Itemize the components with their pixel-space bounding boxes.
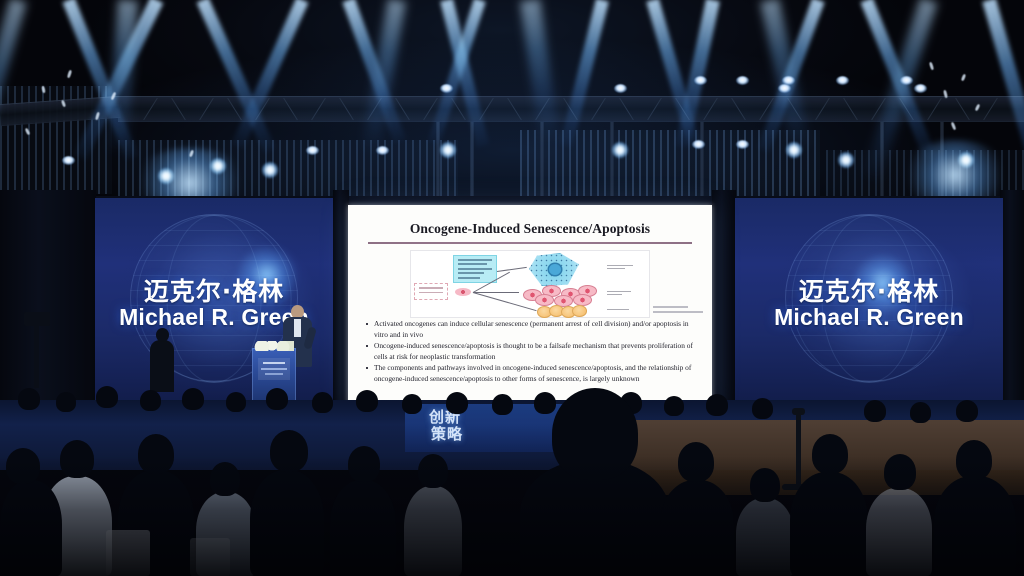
podium-sign-line: [263, 362, 285, 364]
stage-light-fixture: [614, 84, 627, 93]
speaker-name-cn: 迈克尔·格林: [735, 272, 1003, 308]
title-divider: [368, 242, 692, 244]
apoptotic-cells: [537, 305, 587, 318]
stage-light-fixture: [376, 146, 389, 155]
camera-body: [24, 312, 50, 326]
wall-pillar-right: [1000, 190, 1024, 430]
stage-light-fixture: [62, 156, 75, 165]
truss-post: [540, 122, 544, 196]
wall-gap-center-right: [712, 190, 736, 430]
stage-light-fixture: [440, 84, 453, 93]
wall-pillar-left: [0, 190, 96, 430]
camera-operator: [150, 340, 174, 392]
figure-arrow: [473, 292, 519, 293]
wall-gap-center-left: [333, 190, 349, 430]
beam-head-glow: [612, 142, 628, 158]
stage-light-fixture: [692, 140, 705, 149]
stage-scene: 迈克尔·格林 Michael R. Green 迈克尔·格林 Michael R…: [0, 0, 1024, 576]
truss-post: [880, 122, 884, 196]
podium-flowers: [254, 341, 294, 351]
stage-light-fixture: [836, 76, 849, 85]
stage-light-fixture: [736, 76, 749, 85]
senescent-cell: [529, 253, 579, 286]
speaker-name-en: Michael R. Green: [735, 304, 1003, 331]
speaker-banner-right: 迈克尔·格林 Michael R. Green: [735, 198, 1003, 418]
truss-post: [610, 122, 614, 196]
proliferating-cells: [523, 285, 597, 305]
stage-led-text-line2: 策略: [431, 426, 463, 443]
projection-screen: Oncogene-Induced Senescence/Apoptosis: [348, 205, 712, 405]
figure-source-cell: [455, 288, 471, 296]
figure-caption-box: [453, 255, 497, 283]
figure-source-label: [414, 283, 448, 300]
slide-figure: [410, 250, 650, 318]
stage-light-fixture: [736, 140, 749, 149]
figure-outcome-label-proliferation: [607, 291, 631, 297]
beam-head-glow: [838, 152, 854, 168]
slide-bullet: The components and pathways involved in …: [364, 363, 700, 384]
camera-tripod: [34, 318, 39, 388]
figure-outcome-label-senescence: [607, 265, 633, 271]
beam-head-glow: [262, 162, 278, 178]
camera-operator-head: [156, 328, 169, 342]
stage-led-banner: 创新 策略: [405, 404, 620, 452]
cell-granules: [529, 253, 579, 286]
slide-bullet: Oncogene-induced senescence/apoptosis is…: [364, 341, 700, 362]
stanchion-top: [792, 408, 805, 415]
stage-light-fixture: [900, 76, 913, 85]
figure-arrow: [497, 267, 527, 272]
beam-head-glow: [786, 142, 802, 158]
slide-bullet-list: Activated oncogenes can induce cellular …: [364, 319, 700, 385]
stage-light-fixture: [914, 84, 927, 93]
stage-light-fixture: [306, 146, 319, 155]
speaker-name-cn: 迈克尔·格林: [95, 272, 333, 308]
slide-bullet: Activated oncogenes can induce cellular …: [364, 319, 700, 340]
truss-post: [436, 122, 440, 196]
stage-light-fixture: [694, 76, 707, 85]
podium-sign-line: [261, 368, 287, 370]
beam-head-glow: [440, 142, 456, 158]
stage-led-text-line1: 创新: [429, 409, 461, 426]
foreground-vignette: [0, 456, 1024, 576]
truss-post: [700, 122, 704, 196]
figure-outcome-label-apoptosis: [607, 309, 629, 312]
speaker-shirt: [294, 319, 301, 337]
stage-light-fixture: [782, 76, 795, 85]
podium: [252, 348, 296, 404]
truss-post: [470, 122, 474, 196]
figure-credit: [653, 306, 703, 316]
podium-sign-line: [265, 373, 283, 375]
apoptotic-cell: [572, 305, 587, 317]
slide-title: Oncogene-Induced Senescence/Apoptosis: [362, 221, 698, 237]
backwall-slats-right: [520, 130, 820, 196]
